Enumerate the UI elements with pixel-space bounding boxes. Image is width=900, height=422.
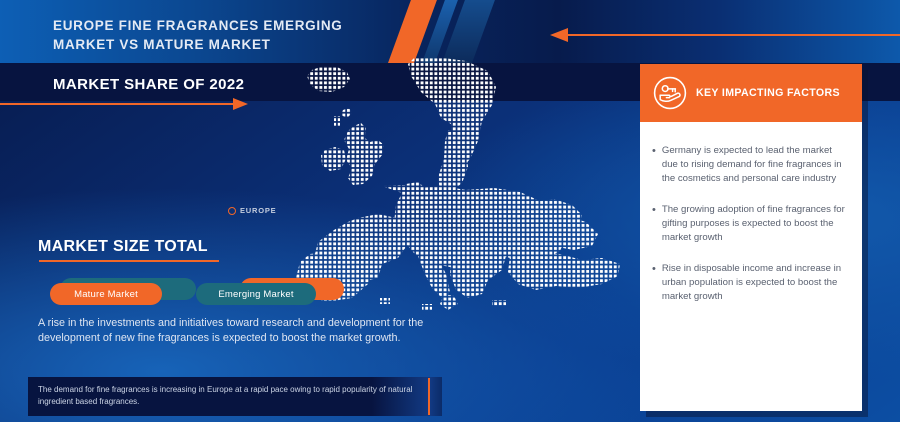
factor-item: • Rise in disposable income and increase… — [652, 262, 848, 304]
bullet-icon: • — [652, 262, 656, 304]
europe-region-label: EUROPE — [240, 206, 276, 215]
circle-marker-icon — [228, 207, 236, 215]
factor-text: The growing adoption of fine fragrances … — [662, 203, 848, 245]
factor-text: Germany is expected to lead the market d… — [662, 144, 848, 186]
legend-item-mature[interactable]: Mature Market — [50, 283, 162, 305]
legend-item-emerging[interactable]: Emerging Market — [196, 283, 316, 305]
market-share-heading: MARKET SHARE OF 2022 — [53, 76, 244, 93]
panel-body: • Germany is expected to lead the market… — [640, 122, 862, 304]
bullet-icon: • — [652, 203, 656, 245]
key-impacting-factors-panel: KEY IMPACTING FACTORS • Germany is expec… — [640, 64, 862, 411]
panel-header: KEY IMPACTING FACTORS — [640, 64, 862, 122]
market-size-underline — [39, 260, 219, 262]
legend-label-mature: Mature Market — [74, 289, 138, 300]
arrow-right-shaft — [0, 103, 234, 105]
infographic-root: EUROPE FINE FRAGRANCES EMERGING MARKET V… — [0, 0, 900, 422]
arrow-right-icon — [0, 98, 248, 110]
arrow-right-head — [233, 98, 248, 110]
arrow-left-icon — [550, 28, 900, 42]
legend-label-emerging: Emerging Market — [218, 289, 293, 300]
europe-region-tag: EUROPE — [228, 206, 276, 215]
europe-dot-map — [296, 58, 626, 313]
panel-title: KEY IMPACTING FACTORS — [696, 87, 840, 99]
factor-text: Rise in disposable income and increase i… — [662, 262, 848, 304]
map-svg — [296, 58, 626, 313]
footer-note: The demand for fine fragrances is increa… — [38, 384, 430, 407]
market-size-heading: MARKET SIZE TOTAL — [38, 238, 208, 256]
page-title: EUROPE FINE FRAGRANCES EMERGING MARKET V… — [53, 16, 383, 54]
factor-item: • Germany is expected to lead the market… — [652, 144, 848, 186]
market-size-description: A rise in the investments and initiative… — [38, 316, 430, 346]
hand-key-icon — [653, 76, 687, 110]
arrow-left-shaft — [564, 34, 900, 36]
market-legend: Mature Market Emerging Market — [50, 276, 350, 308]
factor-item: • The growing adoption of fine fragrance… — [652, 203, 848, 245]
bullet-icon: • — [652, 144, 656, 186]
